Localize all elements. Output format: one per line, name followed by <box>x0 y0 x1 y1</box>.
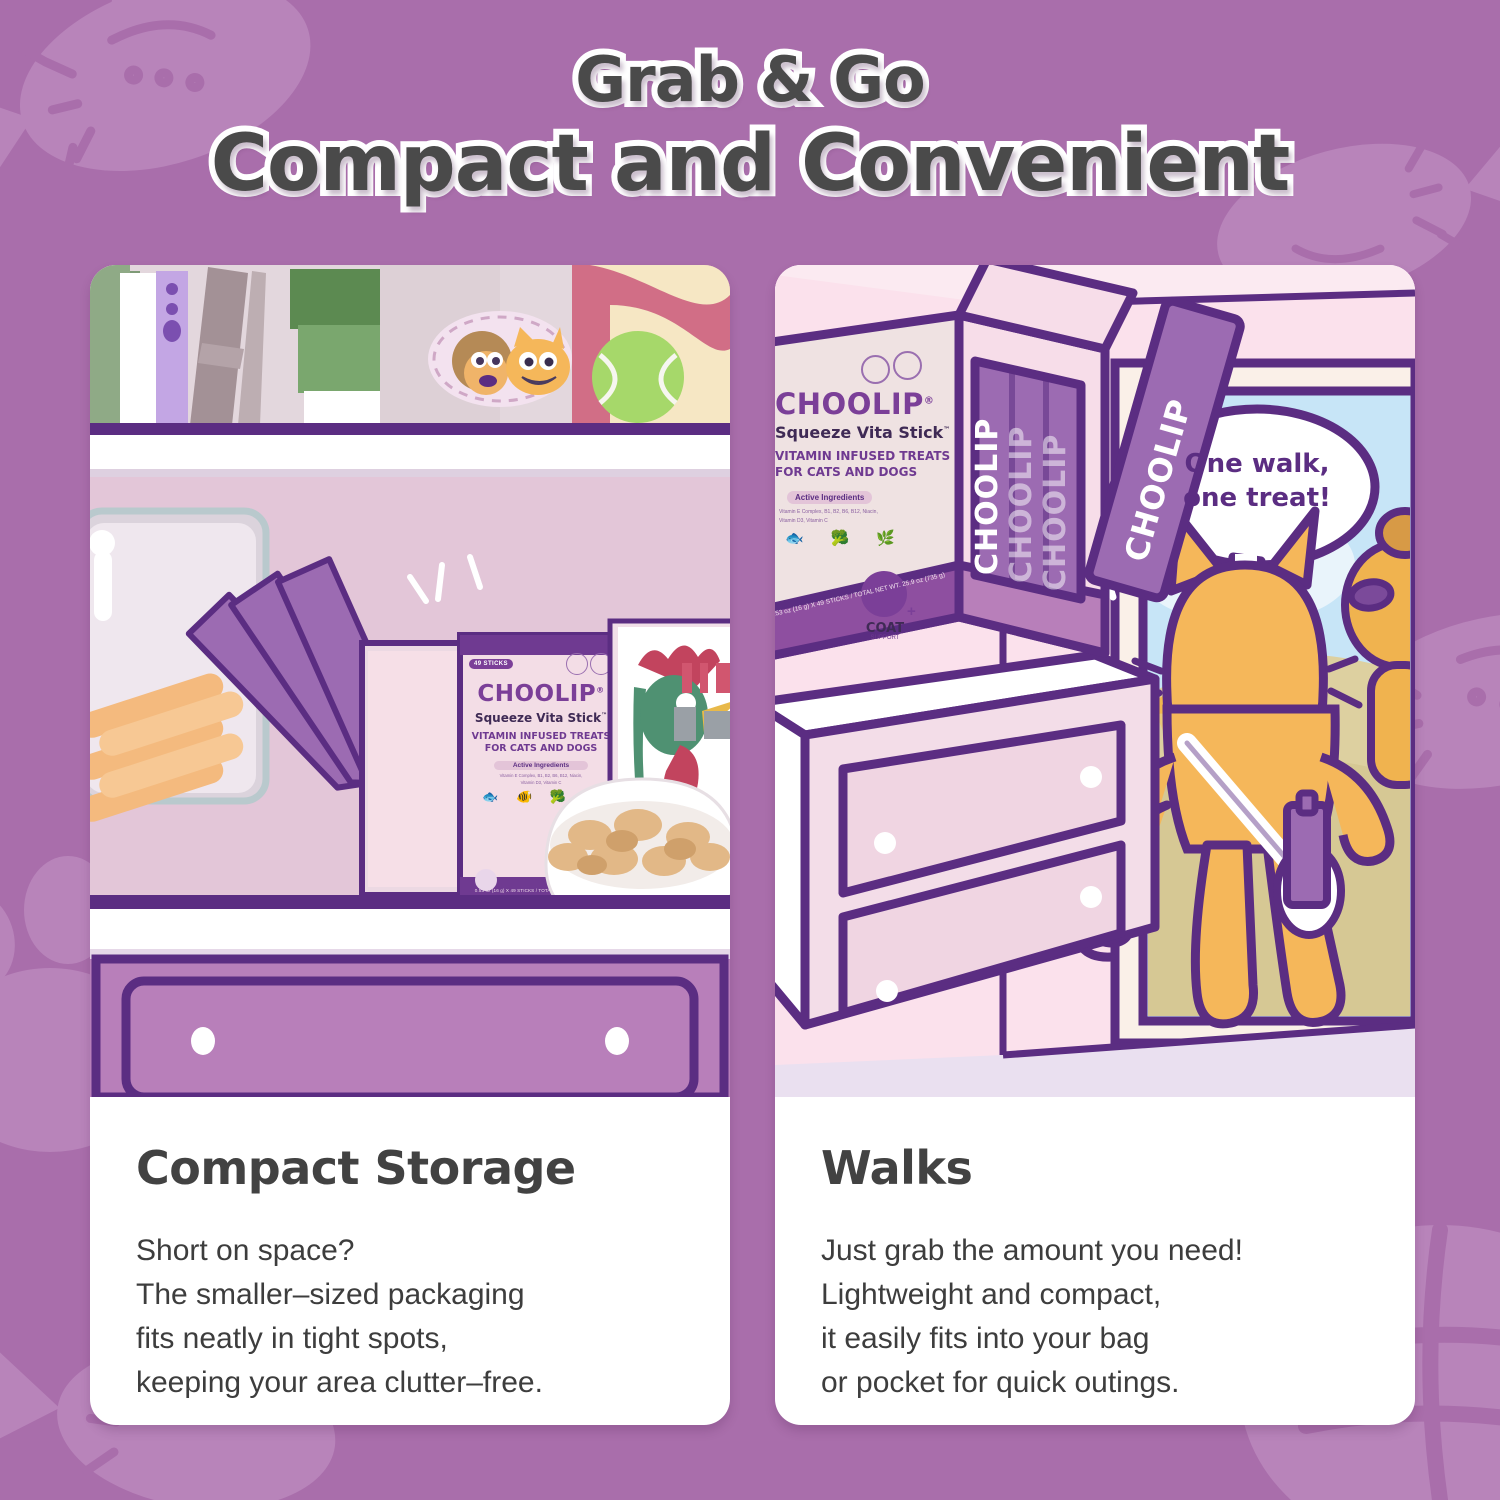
openbox-subtitle: Squeeze Vita Stick™ <box>775 423 950 442</box>
openbox-seal-1 <box>861 355 890 384</box>
openbox-coat-label: COAT <box>853 621 917 636</box>
feature-card-walks: CHOOLIP CHOOLIP CHOOLIP CHOOLIP CHOOLIP®… <box>775 265 1415 1425</box>
benefit-skin-label: SKIN <box>468 898 504 905</box>
ingredient-moringa-icon: 🌿 <box>584 789 600 805</box>
headline-line-2: Compact and Convenient <box>0 118 1500 210</box>
pack-count-badge: 49 STICKS <box>469 659 513 669</box>
page-headline: Grab & Go Compact and Convenient <box>0 42 1500 210</box>
openbox-coat-sub: SUPPORT <box>853 635 917 641</box>
ingredient-fish-oil-icon: 🐠 <box>516 789 532 805</box>
card-body-walks: Just grab the amount you need! Lightweig… <box>821 1229 1369 1405</box>
openbox-brand: CHOOLIP® <box>775 387 934 421</box>
pack-seal-1 <box>566 653 588 675</box>
benefit-coat-label: COAT <box>554 867 616 878</box>
pack-seal-2 <box>590 653 612 675</box>
openbox-tagline-1: VITAMIN INFUSED TREATS <box>775 449 950 463</box>
openbox-seal-2 <box>893 351 922 380</box>
openbox-ingredient-moringa-icon: 🌿 <box>876 529 895 547</box>
openbox-ingredients-header: Active Ingredients <box>787 491 872 504</box>
feature-card-compact-storage: CHOOLIP CHOOLIP CHOOLIP CHOOLIP <box>90 265 730 1425</box>
openbox-coat-plus-icon: + <box>907 603 916 620</box>
openbox-ingredients-line-2: Vitamin D3, Vitamin C <box>779 518 828 524</box>
illustration-shelf-scene: CHOOLIP CHOOLIP CHOOLIP CHOOLIP <box>90 265 730 1097</box>
box-stick-label-3: CHOOLIP <box>1038 434 1073 591</box>
box-stick-label-2: CHOOLIP <box>1004 426 1039 583</box>
benefit-skin-icon <box>475 869 497 891</box>
headline-line-1: Grab & Go <box>0 42 1500 118</box>
illustration-doorway-scene: CHOOLIP CHOOLIP CHOOLIP CHOOLIP CHOOLIP®… <box>775 265 1415 1097</box>
pack-subtitle: Squeeze Vita Stick™ <box>460 711 622 725</box>
card-title-compact-storage: Compact Storage <box>136 1141 684 1195</box>
openbox-tagline-2: FOR CATS AND DOGS <box>775 465 917 479</box>
benefit-coat-plus-icon: + <box>607 851 614 865</box>
pack-ingredients-header: Active Ingredients <box>494 761 588 770</box>
benefit-coat-icon <box>568 825 606 863</box>
openbox-ingredient-broccoli-icon: 🥦 <box>831 529 850 547</box>
box-stick-label-1: CHOOLIP <box>970 418 1005 575</box>
benefit-coat-sub: SUPPORT <box>554 878 616 884</box>
openbox-ingredients-line-1: Vitamin E Complex, B1, B2, B6, B12, Niac… <box>779 509 878 515</box>
card-title-walks: Walks <box>821 1141 1369 1195</box>
pack-brand: CHOOLIP® <box>460 681 622 707</box>
card-body-compact-storage: Short on space? The smaller–sized packag… <box>136 1229 684 1405</box>
ingredient-broccoli-icon: 🥦 <box>550 789 566 805</box>
speech-bubble-text: One walk, one treat! <box>1157 447 1357 515</box>
openbox-ingredient-salmon-icon: 🐟 <box>785 529 804 547</box>
